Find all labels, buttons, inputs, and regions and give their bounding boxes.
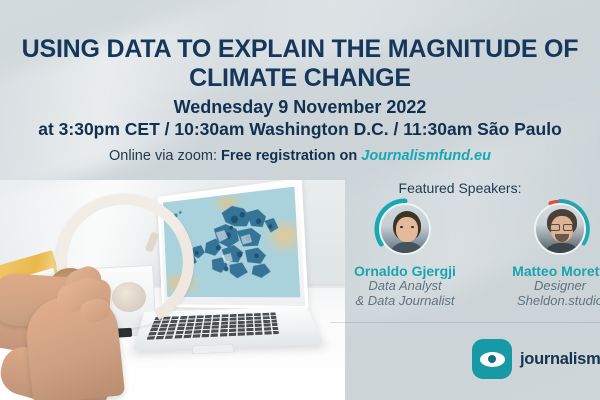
speaker-card: Ornaldo Gjergji Data Analyst & Data Jour… xyxy=(330,198,480,308)
avatar-photo xyxy=(379,203,431,255)
avatar-eye xyxy=(400,226,403,228)
event-datetime: Wednesday 9 November 2022 at 3:30pm CET … xyxy=(0,96,600,140)
hand-lower xyxy=(23,291,125,400)
webinar-poster: USING DATA TO EXPLAIN THE MAGNITUDE OF C… xyxy=(0,0,600,400)
headphone-earcup-right xyxy=(112,282,146,312)
registration-line: Online via zoom: Free registration on Jo… xyxy=(0,148,600,164)
avatar-face-shape xyxy=(396,217,418,242)
laptop-trackpad xyxy=(192,344,235,354)
eye-shape xyxy=(480,352,505,367)
divider xyxy=(330,322,600,323)
speaker-role: Sheldon.studio xyxy=(485,294,600,309)
speaker-role: & Data Journalist xyxy=(330,294,480,309)
avatar xyxy=(529,198,591,260)
speaker-card: Matteo Moretti Designer Sheldon.studio xyxy=(485,198,600,308)
speaker-role: Data Analyst xyxy=(330,279,480,294)
eye-icon xyxy=(472,339,512,379)
avatar-photo xyxy=(534,203,586,255)
event-time: at 3:30pm CET / 10:30am Washington D.C. … xyxy=(0,119,600,141)
speaker-name: Matteo Moretti xyxy=(485,264,600,279)
avatar-glasses-left xyxy=(550,224,560,231)
registration-text: Free registration on xyxy=(221,148,357,164)
avatar-eye xyxy=(411,226,414,228)
eye-pupil xyxy=(488,355,496,363)
avatar xyxy=(374,198,436,260)
speaker-role: Designer xyxy=(485,279,600,294)
speakers-list: Ornaldo Gjergji Data Analyst & Data Jour… xyxy=(330,198,600,318)
journalismfund-logo[interactable]: journalismfund xyxy=(472,338,600,380)
event-date: Wednesday 9 November 2022 xyxy=(0,96,600,119)
avatar-glasses-right xyxy=(563,224,573,231)
journalismfund-link[interactable]: Journalismfund.eu xyxy=(361,148,491,164)
online-lead-text: Online via zoom: xyxy=(109,148,217,164)
page-title: USING DATA TO EXPLAIN THE MAGNITUDE OF C… xyxy=(0,35,600,94)
event-photo xyxy=(0,180,345,400)
logo-wordmark: journalismfund xyxy=(520,350,600,369)
featured-speakers-label: Featured Speakers: xyxy=(330,180,590,196)
speaker-name: Ornaldo Gjergji xyxy=(330,264,480,279)
